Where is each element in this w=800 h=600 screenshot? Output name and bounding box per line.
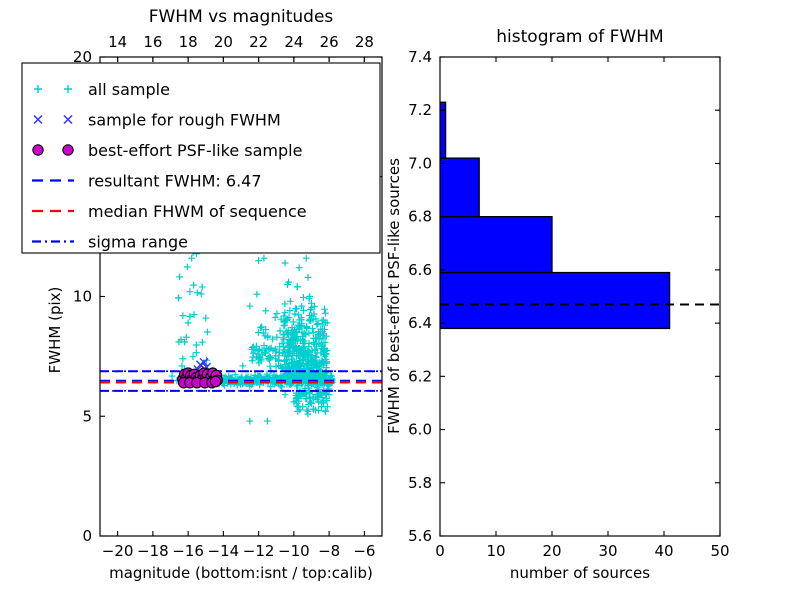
right-ytick-label-0: 5.6 <box>408 527 432 545</box>
right-ytick-label-7: 7.0 <box>408 154 432 172</box>
histogram-bars <box>440 102 670 328</box>
right-xaxis-label: number of sources <box>510 564 650 582</box>
right-ytick-label-2: 6.0 <box>408 421 432 439</box>
right-ytick-label-1: 5.8 <box>408 474 432 492</box>
right-ytick-label-8: 7.2 <box>408 101 432 119</box>
right-xtick-label-5: 50 <box>710 542 729 560</box>
right-xtick-label-3: 30 <box>598 542 617 560</box>
legend-item-label-5: sigma range <box>88 233 188 252</box>
left-xtick-label-3: −14 <box>208 542 240 560</box>
right-ytick-label-3: 6.2 <box>408 367 432 385</box>
left-xtick-label-2: −16 <box>172 542 204 560</box>
histogram-bar-2 <box>440 158 479 217</box>
right-ytick-label-9: 7.4 <box>408 48 432 66</box>
right-yaxis-label: FWHM of best-effort PSF-like sources <box>385 158 403 434</box>
histogram-bar-0 <box>440 273 670 329</box>
right-ytick-label-4: 6.4 <box>408 314 432 332</box>
legend-item-label-0: all sample <box>88 80 170 99</box>
right-panel: histogram of FWHM 01020304050 5.65.86.06… <box>385 27 730 582</box>
left-ytick-label-1: 5 <box>82 407 92 425</box>
left-xtick-label-6: −8 <box>318 542 340 560</box>
left-xtick-top-label-1: 16 <box>143 33 162 51</box>
legend-item-label-3: resultant FWHM: 6.47 <box>88 172 262 191</box>
left-xtick-label-7: −6 <box>353 542 375 560</box>
legend: all samplesample for rough FWHMbest-effo… <box>22 63 380 253</box>
left-panel-title: FWHM vs magnitudes <box>149 7 334 27</box>
right-ytick-label-6: 6.8 <box>408 208 432 226</box>
left-xtick-top-label-2: 18 <box>179 33 198 51</box>
right-ytick-label-5: 6.6 <box>408 261 432 279</box>
histogram-bar-1 <box>440 217 552 273</box>
legend-item-label-2: best-effort PSF-like sample <box>88 141 302 160</box>
left-ytick-label-0: 0 <box>82 527 92 545</box>
figure-canvas: FWHM vs magnitudes <box>0 0 800 600</box>
left-xtick-top-label-3: 20 <box>214 33 233 51</box>
legend-item-label-1: sample for rough FWHM <box>88 111 281 130</box>
left-xtick-label-1: −18 <box>137 542 169 560</box>
left-xtick-top-label-6: 26 <box>320 33 339 51</box>
left-xaxis-label: magnitude (bottom:isnt / top:calib) <box>109 564 373 582</box>
legend-item-label-4: median FHWM of sequence <box>88 202 307 221</box>
left-xaxis-top-ticks: 1416182022242628 <box>108 33 374 62</box>
left-yaxis-label: FWHM (pix) <box>46 287 64 374</box>
plot-svg: FWHM vs magnitudes <box>0 0 800 600</box>
left-xtick-top-label-7: 28 <box>355 33 374 51</box>
left-xtick-label-5: −10 <box>278 542 310 560</box>
right-xtick-label-2: 20 <box>542 542 561 560</box>
left-xtick-top-label-0: 14 <box>108 33 127 51</box>
right-panel-title: histogram of FWHM <box>496 27 663 47</box>
left-xtick-top-label-5: 24 <box>284 33 303 51</box>
left-ytick-label-2: 10 <box>73 288 92 306</box>
right-xtick-label-4: 40 <box>654 542 673 560</box>
right-xtick-label-0: 0 <box>435 542 445 560</box>
scatter-psf-like-sample <box>178 368 223 388</box>
left-xtick-label-4: −12 <box>243 542 275 560</box>
right-xtick-label-1: 10 <box>486 542 505 560</box>
left-xtick-label-0: −20 <box>102 542 134 560</box>
left-xtick-top-label-4: 22 <box>249 33 268 51</box>
